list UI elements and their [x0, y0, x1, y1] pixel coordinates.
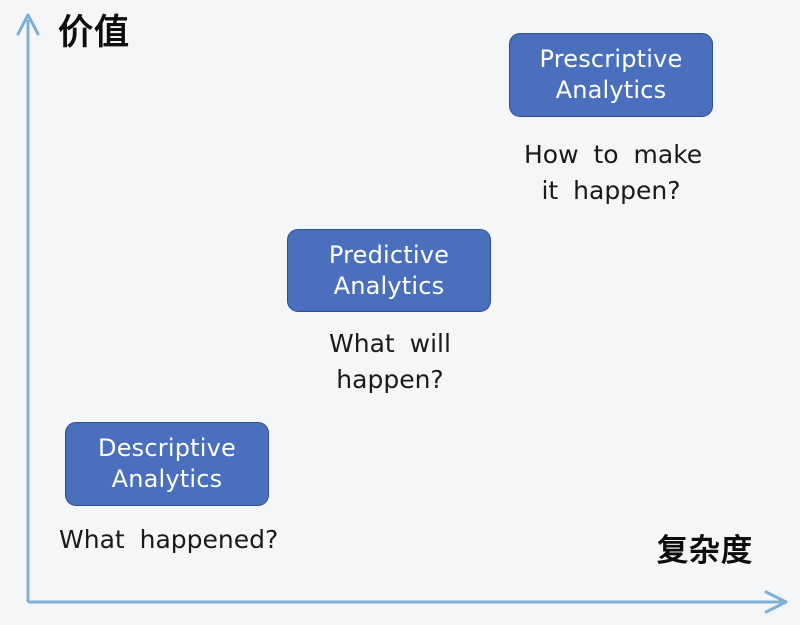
x-axis-label: 复杂度 [657, 536, 753, 567]
caption-prescriptive: How to make it happen? [524, 137, 698, 208]
y-axis-arrowhead [18, 15, 38, 34]
caption-prescriptive-line1: How to make [524, 137, 698, 173]
x-axis-arrowhead [766, 592, 786, 612]
stage-box-predictive[interactable]: Predictive Analytics [287, 229, 491, 312]
stage-box-prescriptive-line2: Analytics [556, 75, 667, 106]
stage-box-descriptive[interactable]: Descriptive Analytics [65, 422, 269, 506]
caption-predictive-line1: What will [322, 326, 458, 362]
caption-descriptive: What happened? [59, 522, 278, 558]
stage-box-prescriptive[interactable]: Prescriptive Analytics [509, 33, 713, 117]
stage-box-predictive-line1: Predictive [329, 240, 449, 271]
y-axis-label: 价值 [58, 16, 130, 51]
caption-predictive: What will happen? [322, 326, 458, 397]
stage-box-predictive-line2: Analytics [334, 271, 445, 302]
stage-box-descriptive-line1: Descriptive [98, 433, 236, 464]
analytics-maturity-diagram: 价值 复杂度 Prescriptive Analytics How to mak… [0, 0, 800, 625]
stage-box-descriptive-line2: Analytics [112, 464, 223, 495]
stage-box-prescriptive-line1: Prescriptive [539, 44, 682, 75]
caption-descriptive-line1: What happened? [59, 522, 278, 558]
caption-predictive-line2: happen? [322, 362, 458, 398]
caption-prescriptive-line2: it happen? [524, 173, 698, 209]
